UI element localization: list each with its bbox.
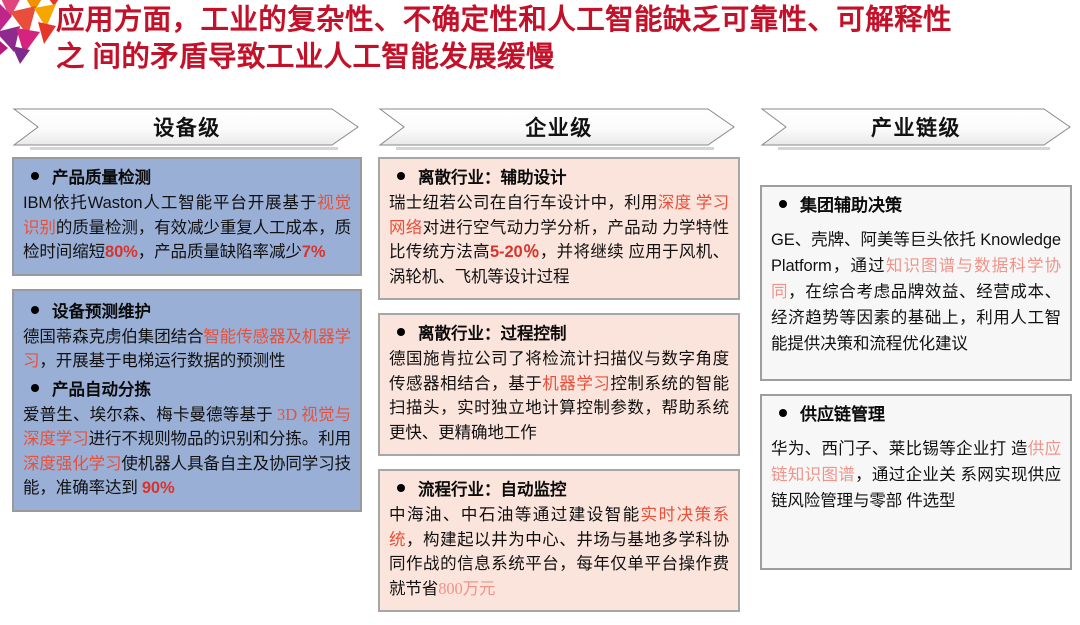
card-heading: 离散行业：辅助设计 <box>389 166 729 190</box>
card-heading-text: 产品质量检测 <box>52 166 151 190</box>
card-heading: 供应链管理 <box>771 403 1061 427</box>
card-heading: 集团辅助决策 <box>771 194 1061 218</box>
bullet-dot-icon <box>397 328 405 336</box>
card-heading: 离散行业：过程控制 <box>389 322 729 346</box>
card-body-text: 德国蒂森克虏伯集团结合智能传感器及机器学习，开展基于电梯运行数据的预测性 <box>23 325 351 374</box>
content-card: 产品质量检测IBM依托Waston人工智能平台开展基于视觉识别的质量检测，有效减… <box>12 157 362 276</box>
card-heading: 设备预测维护 <box>23 300 351 324</box>
column-header-label-3: 产业链级 <box>760 108 1072 146</box>
card-heading-text: 集团辅助决策 <box>800 194 902 218</box>
bullet-dot-icon <box>779 200 787 208</box>
content-card: 集团辅助决策GE、壳牌、阿美等巨头依托 Knowledge Platform，通… <box>760 185 1072 381</box>
card-heading-text: 离散行业：过程控制 <box>418 322 567 346</box>
column-header-banner-2: 企业级 <box>378 108 740 146</box>
bullet-dot-icon <box>31 306 39 314</box>
card-body-text: 德国施肯拉公司了将检流计扫描仪与数字角度传感器相结合，基于机器学习控制系统的智能… <box>389 347 729 445</box>
bullet-dot-icon <box>31 384 39 392</box>
column-header-banner-1: 设备级 <box>12 108 362 146</box>
column-top-spacer <box>760 157 1072 185</box>
slide-title-line-1: 应用方面，工业的复杂性、不确定性和人工智能缺乏可靠性、可解释性 <box>56 2 1074 39</box>
card-heading-text: 流程行业：自动监控 <box>418 478 567 502</box>
card-body-text: GE、壳牌、阿美等巨头依托 Knowledge Platform，通过知识图谱与… <box>771 227 1061 357</box>
content-card: 设备预测维护德国蒂森克虏伯集团结合智能传感器及机器学习，开展基于电梯运行数据的预… <box>12 289 362 512</box>
card-body-text: 瑞士纽若公司在自行车设计中，利用深度 学习网络对进行空气动力学分析，产品动 力学… <box>389 191 729 289</box>
column-1: 设备级产品质量检测IBM依托Waston人工智能平台开展基于视觉识别的质量检测，… <box>0 108 370 525</box>
column-header-banner-3: 产业链级 <box>760 108 1072 146</box>
bullet-dot-icon <box>397 172 405 180</box>
column-3: 产业链级集团辅助决策GE、壳牌、阿美等巨头依托 Knowledge Platfo… <box>748 108 1080 583</box>
content-card: 供应链管理华为、西门子、莱比锡等企业打 造供应链知识图谱，通过企业关 系网实现供… <box>760 394 1072 570</box>
card-body-text: 华为、西门子、莱比锡等企业打 造供应链知识图谱，通过企业关 系网实现供应链风险管… <box>771 436 1061 514</box>
card-heading: 流程行业：自动监控 <box>389 478 729 502</box>
card-heading-text: 产品自动分拣 <box>52 378 151 402</box>
bullet-dot-icon <box>397 484 405 492</box>
card-heading: 产品自动分拣 <box>23 378 351 402</box>
columns-container: 设备级产品质量检测IBM依托Waston人工智能平台开展基于视觉识别的质量检测，… <box>0 108 1080 608</box>
content-card: 离散行业：过程控制德国施肯拉公司了将检流计扫描仪与数字角度传感器相结合，基于机器… <box>378 313 740 456</box>
card-body-text: 爱普生、埃尔森、梅卡曼德等基于 3D 视觉与深度学习进行不规则物品的识别和分拣。… <box>23 403 351 501</box>
content-card: 离散行业：辅助设计瑞士纽若公司在自行车设计中，利用深度 学习网络对进行空气动力学… <box>378 157 740 300</box>
column-header-label-2: 企业级 <box>378 108 740 146</box>
slide-title-line-2: 之 间的矛盾导致工业人工智能发展缓慢 <box>56 39 1074 76</box>
card-heading-text: 设备预测维护 <box>52 300 151 324</box>
card-heading-text: 离散行业：辅助设计 <box>418 166 567 190</box>
card-heading: 产品质量检测 <box>23 166 351 190</box>
column-header-label-1: 设备级 <box>12 108 362 146</box>
bullet-dot-icon <box>779 409 787 417</box>
column-2: 企业级离散行业：辅助设计瑞士纽若公司在自行车设计中，利用深度 学习网络对进行空气… <box>370 108 748 625</box>
slide-title: 应用方面，工业的复杂性、不确定性和人工智能缺乏可靠性、可解释性 之 间的矛盾导致… <box>56 2 1074 76</box>
card-body-text: 中海油、中石油等通过建设智能实时决策系统，构建起以井为中心、井场与基地多学科协同… <box>389 503 729 601</box>
content-card: 流程行业：自动监控中海油、中石油等通过建设智能实时决策系统，构建起以井为中心、井… <box>378 469 740 612</box>
card-heading-text: 供应链管理 <box>800 403 885 427</box>
card-body-text: IBM依托Waston人工智能平台开展基于视觉识别的质量检测，有效减少重复人工成… <box>23 191 351 265</box>
bullet-dot-icon <box>31 172 39 180</box>
